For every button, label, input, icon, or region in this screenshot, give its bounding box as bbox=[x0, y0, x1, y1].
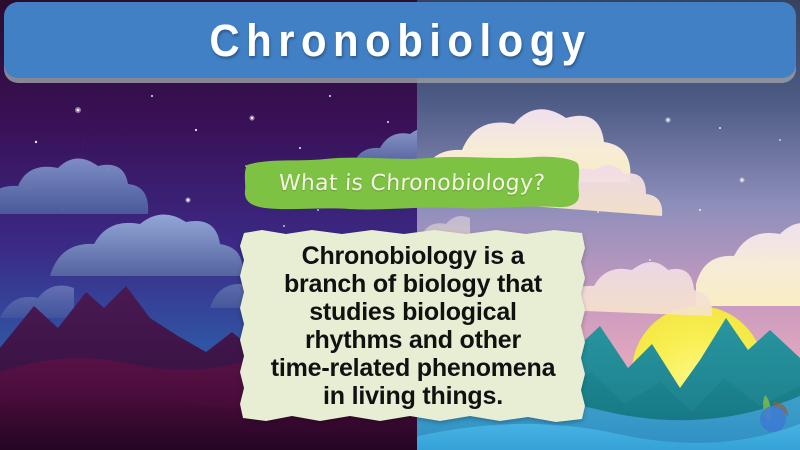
page-title: Chronobiology bbox=[209, 18, 591, 63]
infographic-canvas: Chronobiology What is Chronobiology? Chr… bbox=[0, 0, 800, 450]
definition-line: studies biological bbox=[309, 298, 517, 326]
definition-line: branch of biology that bbox=[284, 270, 542, 298]
title-bar: Chronobiology bbox=[4, 2, 796, 78]
definition-line: time-related phenomena bbox=[271, 354, 556, 382]
definition-line: Chronobiology is a bbox=[302, 242, 525, 270]
question-banner-label: What is Chronobiology? bbox=[242, 155, 583, 211]
leaf-circle-logo bbox=[752, 392, 792, 436]
definition-line: in living things. bbox=[323, 382, 503, 410]
definition-line: rhythms and other bbox=[305, 326, 521, 354]
definition-text: Chronobiology is a branch of biology tha… bbox=[248, 236, 578, 415]
question-banner: What is Chronobiology? bbox=[243, 155, 581, 211]
definition-card: Chronobiology is a branch of biology tha… bbox=[238, 228, 588, 423]
